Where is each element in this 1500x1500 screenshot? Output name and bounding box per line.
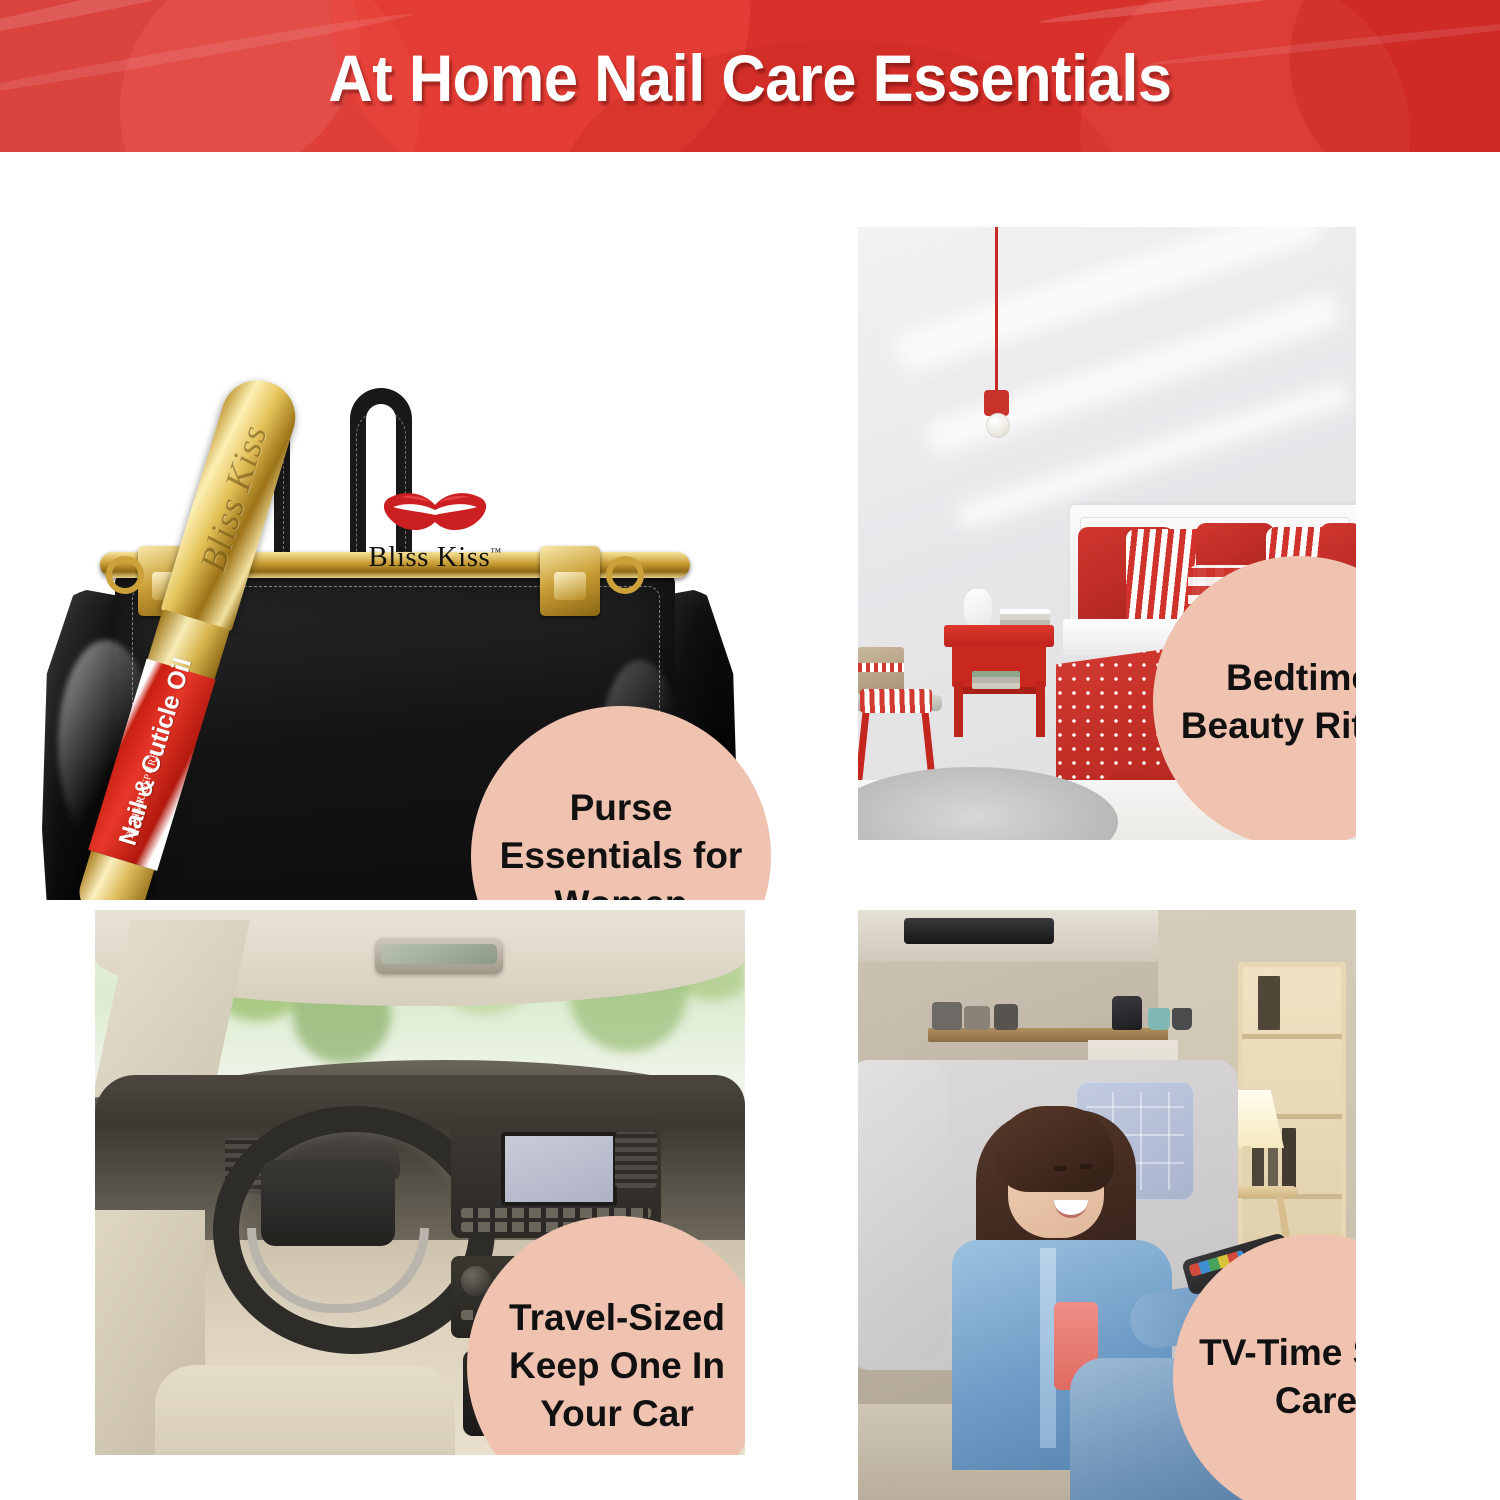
sofa-arm [858, 1060, 948, 1360]
mug-dark [1172, 1008, 1192, 1030]
panel-purse: Bliss Kiss Nail & Cuticle Oil SIMPLY PUR… [0, 160, 820, 900]
panel-living-room: TV-Time Self-Care [858, 910, 1356, 1500]
badge-travel-text: Travel-Sized Keep One In Your Car [467, 1294, 745, 1438]
infotainment-screen[interactable] [501, 1132, 617, 1206]
woman-hair-front [994, 1106, 1114, 1192]
books-stack-shelf [972, 671, 1020, 689]
woman-eye-right [1080, 1164, 1093, 1169]
shelf-book-3 [1282, 1128, 1296, 1192]
nightstand-red [944, 625, 1054, 737]
light-bulb-icon [986, 413, 1010, 438]
bag-clasp-right [540, 546, 600, 616]
air-vent-center-right [615, 1132, 657, 1188]
nightstand-leg-left [954, 681, 963, 737]
table-lamp-stem [1242, 1146, 1251, 1190]
nightstand-top [944, 625, 1054, 647]
woman-eye-left [1054, 1166, 1067, 1171]
bag-ring-left [106, 556, 144, 594]
books-stack-top [1000, 609, 1050, 626]
shelf-book-4 [1258, 976, 1280, 1030]
air-conditioner [904, 918, 1054, 944]
lips-icon [381, 492, 489, 534]
badge-bedtime-text: Bedtime Beauty Ritual [1153, 654, 1356, 750]
folded-linens [860, 689, 932, 713]
nightstand-leg-right [1036, 681, 1045, 737]
kettle [1112, 996, 1142, 1030]
rearview-mirror [375, 938, 503, 974]
brand-logo-text: Bliss Kiss™ [368, 541, 501, 574]
shelf-row-1 [1242, 1034, 1342, 1039]
panel-car: Travel-Sized Keep One In Your Car [95, 910, 745, 1455]
badge-tv-text: TV-Time Self-Care [1173, 1329, 1356, 1425]
bag-ring-right [606, 556, 644, 594]
gift-box [858, 647, 904, 695]
pot-3 [994, 1004, 1018, 1030]
panel-bedroom: Bedtime Beauty Ritual [858, 227, 1356, 840]
pot-1 [932, 1002, 962, 1030]
pot-2 [964, 1006, 990, 1030]
vase-white [964, 589, 992, 629]
passenger-seat [155, 1365, 455, 1455]
pendant-cord [995, 227, 998, 394]
page-title: At Home Nail Care Essentials [53, 0, 1448, 152]
brand-trademark: ™ [490, 546, 501, 558]
badge-purse-text: Purse Essentials for Women [471, 784, 771, 900]
brand-name: Bliss Kiss [368, 541, 490, 573]
mug-teal [1148, 1008, 1170, 1030]
header-banner: At Home Nail Care Essentials [0, 0, 1500, 152]
brand-logo: Bliss Kiss™ [350, 492, 520, 587]
